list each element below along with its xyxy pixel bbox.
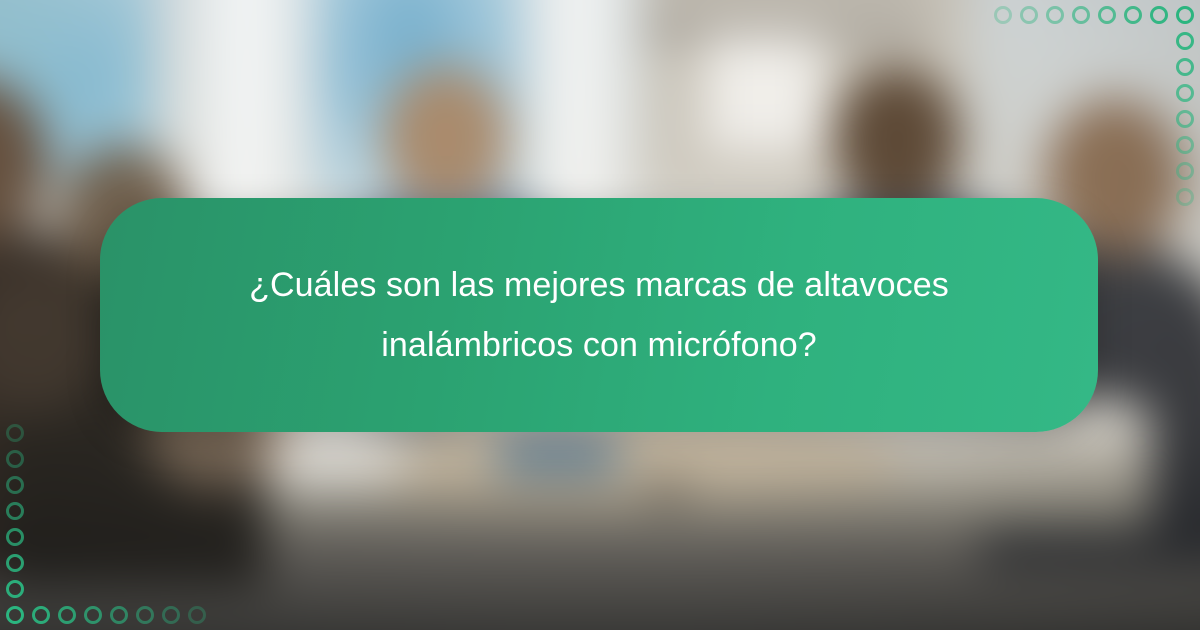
dot-bottom-row-4 (110, 606, 128, 624)
dot-bottom-row-5 (136, 606, 154, 624)
dot-top-row-7 (1176, 6, 1194, 24)
dot-bottom-row-1 (32, 606, 50, 624)
dot-right-col-1 (1176, 32, 1194, 50)
dot-left-col-6 (6, 450, 24, 468)
dot-left-col-5 (6, 476, 24, 494)
question-card: ¿Cuáles son las mejores marcas de altavo… (100, 198, 1098, 432)
dot-top-row-3 (1072, 6, 1090, 24)
dot-bottom-row-6 (162, 606, 180, 624)
dot-top-row-5 (1124, 6, 1142, 24)
dot-left-col-2 (6, 554, 24, 572)
dot-bottom-row-7 (188, 606, 206, 624)
dot-bottom-row-2 (58, 606, 76, 624)
dot-left-col-3 (6, 528, 24, 546)
dot-right-col-2 (1176, 58, 1194, 76)
dot-bottom-row-0 (6, 606, 24, 624)
dot-bottom-row-3 (84, 606, 102, 624)
dot-right-col-4 (1176, 110, 1194, 128)
dot-top-row-0 (994, 6, 1012, 24)
question-text: ¿Cuáles son las mejores marcas de altavo… (204, 255, 994, 375)
dot-top-row-2 (1046, 6, 1064, 24)
dot-right-col-3 (1176, 84, 1194, 102)
dot-right-col-7 (1176, 188, 1194, 206)
dot-right-col-6 (1176, 162, 1194, 180)
dot-left-col-4 (6, 502, 24, 520)
dot-top-row-6 (1150, 6, 1168, 24)
dot-right-col-5 (1176, 136, 1194, 154)
dot-left-col-7 (6, 424, 24, 442)
image-canvas: ¿Cuáles son las mejores marcas de altavo… (0, 0, 1200, 630)
dot-left-col-1 (6, 580, 24, 598)
dot-top-row-1 (1020, 6, 1038, 24)
dot-top-row-4 (1098, 6, 1116, 24)
